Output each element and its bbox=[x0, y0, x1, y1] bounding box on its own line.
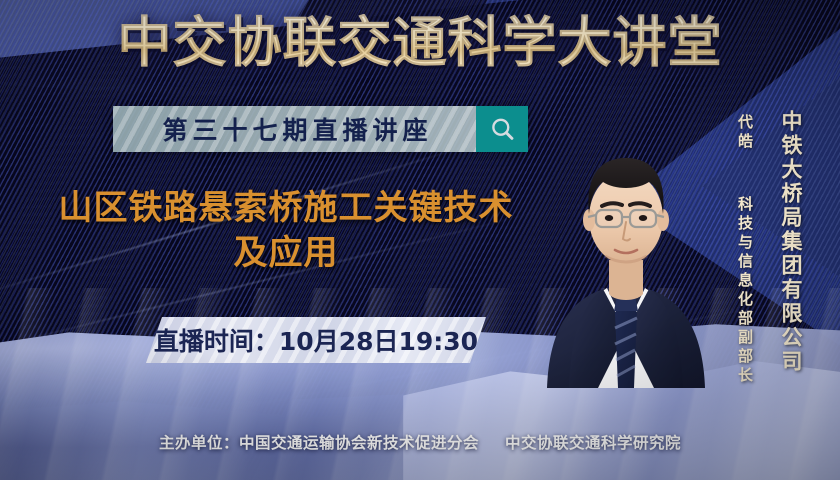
page-title: 中交协联交通科学大讲堂 bbox=[0, 14, 840, 72]
footer-organizer-1: 中国交通运输协会新技术促进分会 bbox=[239, 434, 479, 452]
speaker-name-title: 代皓 科技与信息化部副部长 bbox=[735, 114, 756, 386]
livestream-poster: 中交协联交通科学大讲堂 第三十七期直播讲座 山区铁路悬索桥施工关键技术 及应用 … bbox=[0, 0, 840, 480]
episode-label: 第三十七期直播讲座 bbox=[156, 111, 432, 147]
speaker-company: 中铁大桥局集团有限公司 bbox=[776, 110, 806, 374]
schedule-text: 直播时间：10月28日19:30 bbox=[154, 322, 478, 358]
footer-organizers: 主办单位：中国交通运输协会新技术促进分会中交协联交通科学研究院 bbox=[0, 431, 840, 453]
search-button[interactable] bbox=[476, 106, 528, 152]
lecture-headline: 山区铁路悬索桥施工关键技术 及应用 bbox=[26, 186, 546, 276]
speaker-photo bbox=[545, 96, 707, 388]
search-icon bbox=[489, 116, 516, 143]
schedule-banner: 直播时间：10月28日19:30 bbox=[146, 317, 486, 363]
episode-field[interactable]: 第三十七期直播讲座 bbox=[113, 106, 476, 152]
episode-search-bar[interactable]: 第三十七期直播讲座 bbox=[113, 106, 528, 152]
headline-line-2: 及应用 bbox=[26, 231, 546, 276]
footer-organizer-2: 中交协联交通科学研究院 bbox=[505, 434, 681, 452]
footer-prefix: 主办单位： bbox=[159, 434, 239, 452]
headline-line-1: 山区铁路悬索桥施工关键技术 bbox=[26, 186, 546, 231]
